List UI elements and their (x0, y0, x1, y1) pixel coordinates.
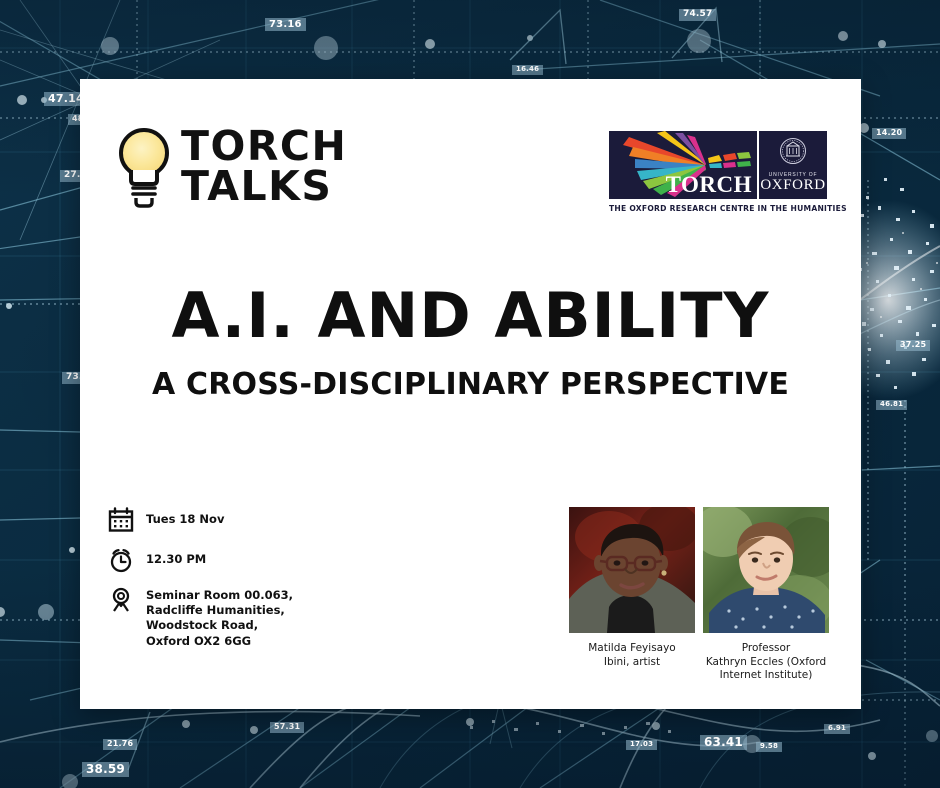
speaker-caption-line: Matilda Feyisayo (569, 642, 695, 656)
page-subtitle: A CROSS-DISCIPLINARY PERSPECTIVE (80, 370, 861, 400)
detail-line: Radcliffe Humanities, (146, 603, 293, 618)
speaker-caption: Professor Kathryn Eccles (Oxford Interne… (703, 642, 829, 683)
oxford-wordmark: OXFORD (760, 178, 825, 194)
detail-date-text: Tues 18 Nov (146, 507, 224, 527)
event-poster: 73.1674.5716.4647.1448.027.1214.2073.937… (0, 0, 940, 788)
oxford-crest-icon (779, 137, 807, 170)
background-data-label: 16.46 (512, 65, 543, 75)
speaker-caption-line: Professor (703, 642, 829, 656)
speaker-caption-line: Internet Institute) (703, 669, 829, 683)
calendar-icon (108, 507, 134, 533)
brand-line-1: TORCH (181, 126, 347, 166)
detail-line: Seminar Room 00.063, (146, 588, 293, 603)
detail-line: Woodstock Road, (146, 618, 293, 633)
background-data-label: 63.41 (700, 735, 747, 750)
torch-talks-brand: TORCH TALKS (113, 122, 347, 210)
torch-talks-wordmark: TORCH TALKS (181, 122, 347, 206)
background-data-label: 38.59 (82, 762, 129, 777)
detail-line: Oxford OX2 6GG (146, 634, 293, 649)
background-data-label: 21.76 (103, 739, 137, 750)
torch-oxford-logo: TORCH (609, 131, 827, 213)
logo-bars: TORCH (609, 131, 827, 199)
speaker-caption-line: Ibini, artist (569, 656, 695, 670)
background-data-label: 73.16 (265, 18, 306, 31)
speaker-card: Matilda Feyisayo Ibini, artist (569, 507, 695, 683)
speaker-portrait-photo (703, 507, 829, 633)
torch-wordmark: TORCH (666, 173, 752, 196)
detail-row-time: 12.30 PM (108, 547, 408, 573)
card-header: TORCH TALKS (80, 79, 861, 239)
speaker-portrait-photo (569, 507, 695, 633)
speakers-list: Matilda Feyisayo Ibini, artist (569, 507, 829, 683)
detail-time-text: 12.30 PM (146, 547, 206, 567)
background-data-label: 6.91 (824, 724, 850, 734)
alarm-clock-icon (108, 547, 134, 573)
background-data-label: 37.25 (896, 340, 930, 351)
speaker-caption-line: Kathryn Eccles (Oxford (703, 656, 829, 670)
background-data-label: 17.03 (626, 740, 657, 750)
background-data-label: 9.58 (756, 742, 782, 752)
speaker-card: Professor Kathryn Eccles (Oxford Interne… (703, 507, 829, 683)
background-data-label: 46.81 (876, 400, 907, 410)
detail-line: 12.30 PM (146, 552, 206, 567)
event-details: Tues 18 Nov 12.30 PM (108, 507, 408, 649)
background-data-label: 14.20 (872, 128, 906, 139)
background-data-label: 57.31 (270, 722, 304, 733)
page-title: A.I. AND ABILITY (80, 285, 861, 347)
oxford-logo-panel: UNIVERSITY OF OXFORD (759, 131, 827, 199)
brand-line-2: TALKS (181, 166, 347, 206)
speaker-caption: Matilda Feyisayo Ibini, artist (569, 642, 695, 669)
detail-location-text: Seminar Room 00.063, Radcliffe Humanitie… (146, 587, 293, 649)
background-data-label: 74.57 (679, 9, 716, 21)
poster-card: TORCH TALKS (80, 79, 861, 709)
lightbulb-icon (113, 122, 175, 210)
detail-row-date: Tues 18 Nov (108, 507, 408, 533)
location-pin-icon (108, 587, 134, 613)
logo-tagline: THE OXFORD RESEARCH CENTRE IN THE HUMANI… (609, 204, 827, 213)
detail-line: Tues 18 Nov (146, 512, 224, 527)
detail-row-location: Seminar Room 00.063, Radcliffe Humanitie… (108, 587, 408, 649)
torch-logo-panel: TORCH (609, 131, 757, 199)
